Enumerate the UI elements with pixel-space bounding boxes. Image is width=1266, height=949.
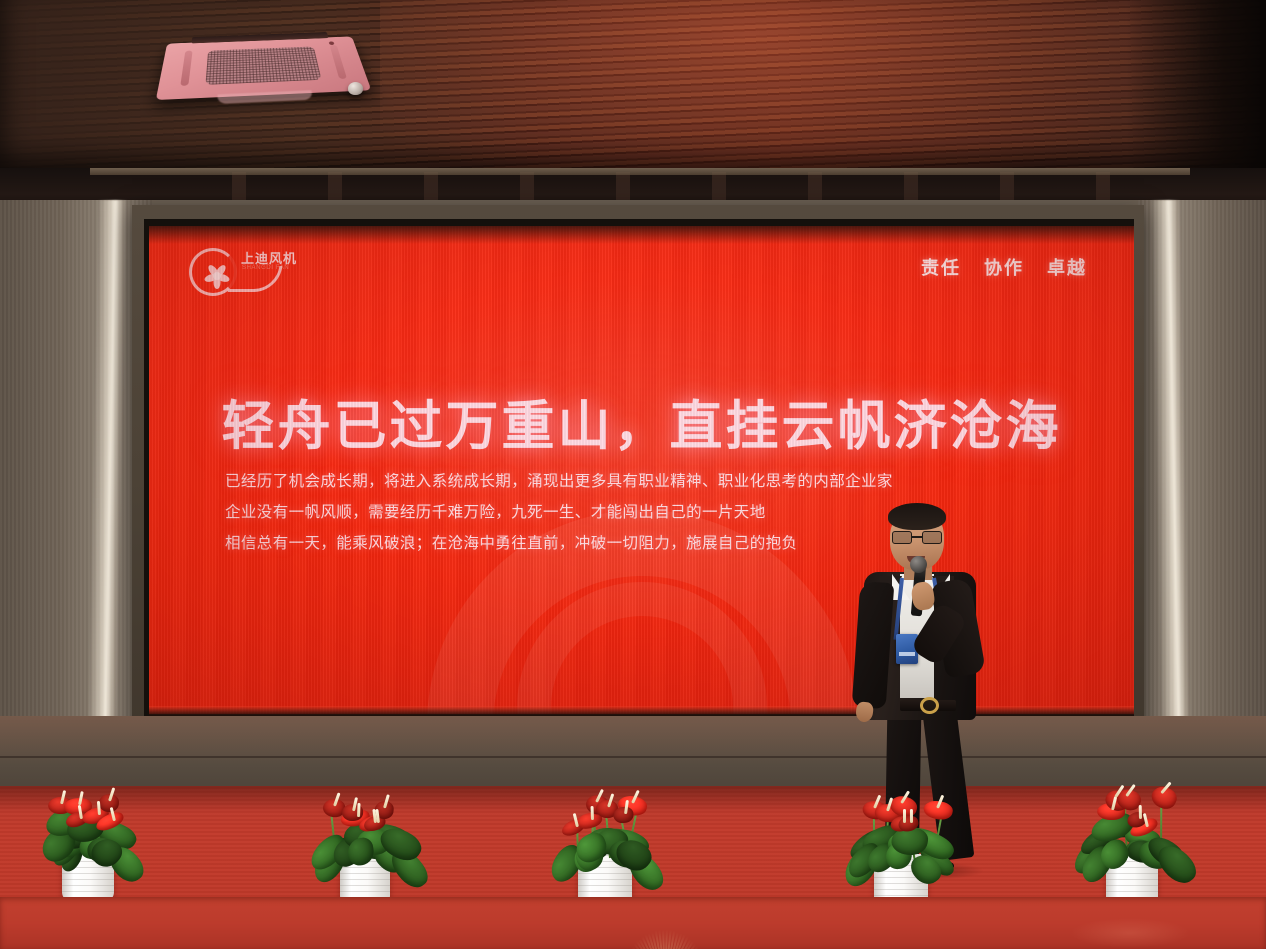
anthurium-plant-2 xyxy=(295,748,435,906)
anthurium-spadix xyxy=(357,803,360,817)
air-conditioner-icon xyxy=(156,36,372,100)
ceiling-shadow-right xyxy=(1126,0,1266,176)
glasses-bridge xyxy=(912,536,922,538)
ac-vane-right xyxy=(329,45,347,80)
microphone-head xyxy=(910,556,927,573)
fan-impeller-icon xyxy=(203,262,231,290)
anthurium-spadix xyxy=(910,809,913,823)
lens-right xyxy=(922,531,942,544)
stage-photo-scene: 上迪风机 SHANGDI FAN 责任 协作 卓越 轻舟已过万重山，直挂云帆济沧… xyxy=(0,0,1266,949)
anthurium-plant-4 xyxy=(826,752,976,910)
ac-grille xyxy=(205,46,322,84)
anthurium-spadix xyxy=(591,806,594,820)
anthurium-plant-1 xyxy=(18,742,158,902)
slide-title: 轻舟已过万重山，直挂云帆济沧海 xyxy=(149,384,1134,460)
stage-lip-highlight xyxy=(1070,918,1190,948)
anthurium-plant-3 xyxy=(530,742,680,908)
wall-panel-left xyxy=(0,200,152,760)
slide-body-line-1: 已经历了机会成长期，将进入系统成长期，涌现出更多具有职业精神、职业化思考的内部企… xyxy=(225,466,1085,497)
logo-brand-en: SHANGDI FAN xyxy=(242,265,289,271)
lens-left xyxy=(892,531,912,544)
anthurium-plant-5 xyxy=(1062,748,1202,908)
eyeglasses-icon xyxy=(891,531,943,544)
presenter-hair xyxy=(888,503,946,530)
anthurium-bloom xyxy=(613,806,634,824)
presenter-belt-buckle xyxy=(920,697,939,714)
gold-starburst-decoration xyxy=(604,910,724,949)
soffit-lip xyxy=(90,168,1190,175)
fan-hub xyxy=(213,272,221,280)
slogan-word-1: 责任 xyxy=(921,258,961,278)
anthurium-spadix xyxy=(1139,805,1142,819)
ceiling-warm-glow xyxy=(380,0,1200,176)
slide-slogan: 责任 协作 卓越 xyxy=(921,254,1087,280)
ac-vane-left xyxy=(180,50,192,86)
slogan-word-3: 卓越 xyxy=(1047,258,1087,278)
smoke-detector-icon xyxy=(348,82,363,95)
slide-brand-logo: 上迪风机 SHANGDI FAN xyxy=(185,240,317,302)
slogan-word-2: 协作 xyxy=(984,258,1024,278)
ac-indicator-light xyxy=(328,41,334,45)
